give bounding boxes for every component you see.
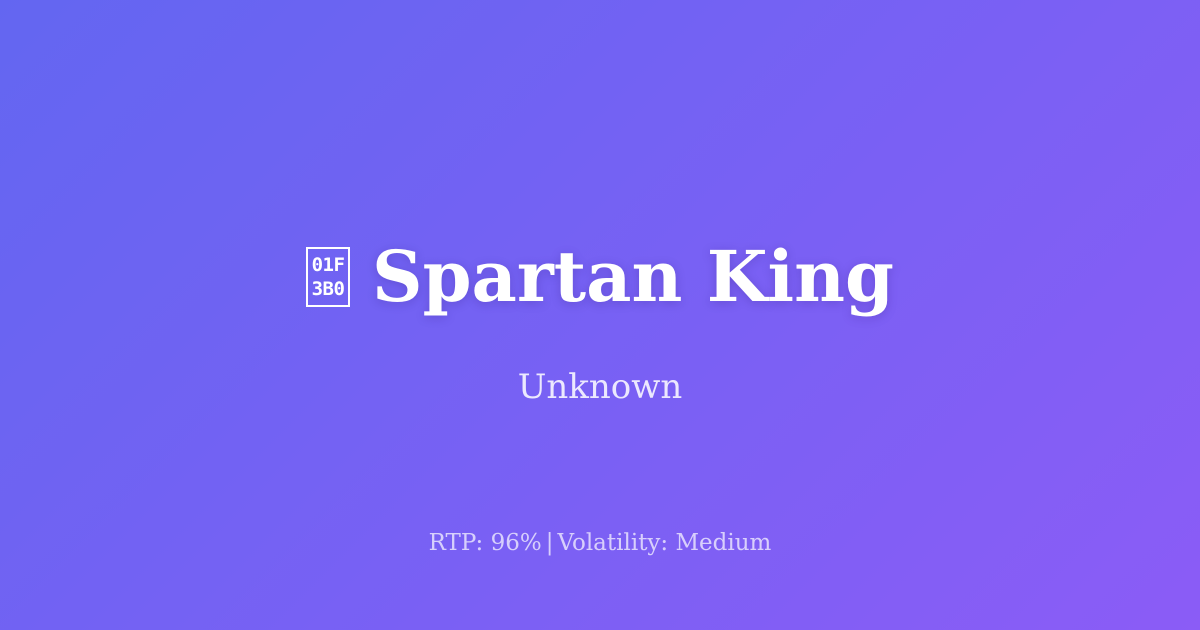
missing-glyph-tofu-box: 01F 3B0	[306, 247, 350, 307]
title-row: 01F 3B0 Spartan King	[0, 231, 1200, 323]
slot-machine-icon: 01F 3B0	[306, 247, 350, 307]
rtp-label: RTP: 96%	[429, 530, 542, 556]
game-title: Spartan King	[372, 242, 894, 312]
tofu-codepoint-top: 01F	[312, 253, 345, 277]
volatility-label: Volatility: Medium	[557, 530, 771, 556]
tofu-codepoint-bottom: 3B0	[312, 277, 345, 301]
game-og-card: 01F 3B0 Spartan King Unknown RTP: 96%|Vo…	[0, 0, 1200, 630]
game-provider: Unknown	[0, 365, 1200, 409]
game-meta-line: RTP: 96%|Volatility: Medium	[0, 528, 1200, 558]
meta-separator: |	[542, 530, 558, 556]
